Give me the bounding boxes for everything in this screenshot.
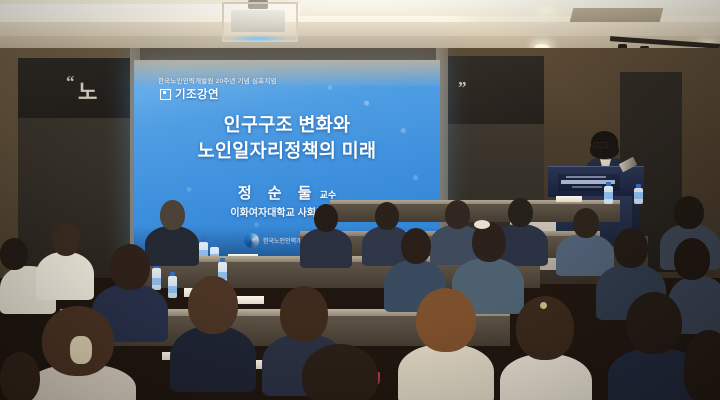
audience-head [110,244,150,290]
audience-head [302,344,378,400]
audience-head [684,330,720,400]
audience-head [188,276,238,334]
slide-kicker: 기조강연 [160,86,219,102]
audience-head [52,222,80,256]
audience-member [684,330,720,400]
audience-head [626,292,682,354]
audience-member [170,276,256,386]
audience-member [398,288,494,400]
bottle-cap [606,182,611,186]
audience-shoulders [398,344,494,400]
bottle-cap [220,258,225,262]
audience-member [26,306,136,400]
wall-glyph-no: 노 [78,82,97,103]
audience-head [375,202,399,230]
audience-shoulders [300,228,352,268]
slide-title-line-2: 노인일자리정책의 미래 [134,138,440,164]
ceiling-downlight-icon [540,6,554,13]
slide-bullet-icon [160,89,171,100]
audience-shoulders [170,326,256,392]
podium-banner-text-line [572,186,602,188]
audience-head [314,204,338,232]
audience-head [401,228,431,264]
audience-member [0,352,40,400]
hair-scrunchie [474,220,490,229]
podium-top [548,166,644,197]
audience-head [674,196,704,229]
water-bottle [604,186,613,204]
audience-head [0,238,28,270]
hair-clip [540,302,547,309]
hair-accessory [70,336,92,364]
wall-close-quote: ” [458,78,465,98]
audience-member [292,344,388,400]
presenter-glasses-icon [593,142,608,148]
bottle-cap [201,238,206,242]
projector-beam-glow [228,35,288,42]
audience-head [614,228,648,268]
audience-member [36,222,94,292]
audience-shoulders [36,252,94,300]
water-bottle [634,188,643,204]
audience-member [300,204,352,262]
audience-head [0,352,40,400]
screen-glare [134,60,440,86]
slide-title-line-1: 인구구조 변화와 [134,112,440,138]
bottle-label [634,192,643,199]
bottle-label [604,192,613,199]
wall-open-quote: “ [66,72,73,92]
audience-head [674,238,710,280]
slide-title: 인구구조 변화와 노인일자리정책의 미래 [134,112,440,165]
slide-speaker-name: 정 순 둘 [238,185,318,202]
audience-shoulders [500,354,592,400]
audience-head [160,200,185,230]
slide-speaker-title: 교수 [320,190,337,200]
podium-banner-text-line [566,176,606,178]
projector-body [231,10,285,32]
conference-hall-photo: “ 노 ” 한국노인인력개발원 20주년 기념 심포지엄 기조강연 인구구조 변… [0,0,720,400]
wall-panel-left-upper [18,58,130,118]
audience-member [500,296,592,400]
bottle-cap [636,184,641,188]
bottle-cap [212,243,217,247]
slide-kicker-label: 기조강연 [175,86,219,102]
paper-handout [556,196,582,202]
audience-head [416,288,476,352]
audience-head [280,286,328,342]
ceiling-projector [222,2,294,38]
